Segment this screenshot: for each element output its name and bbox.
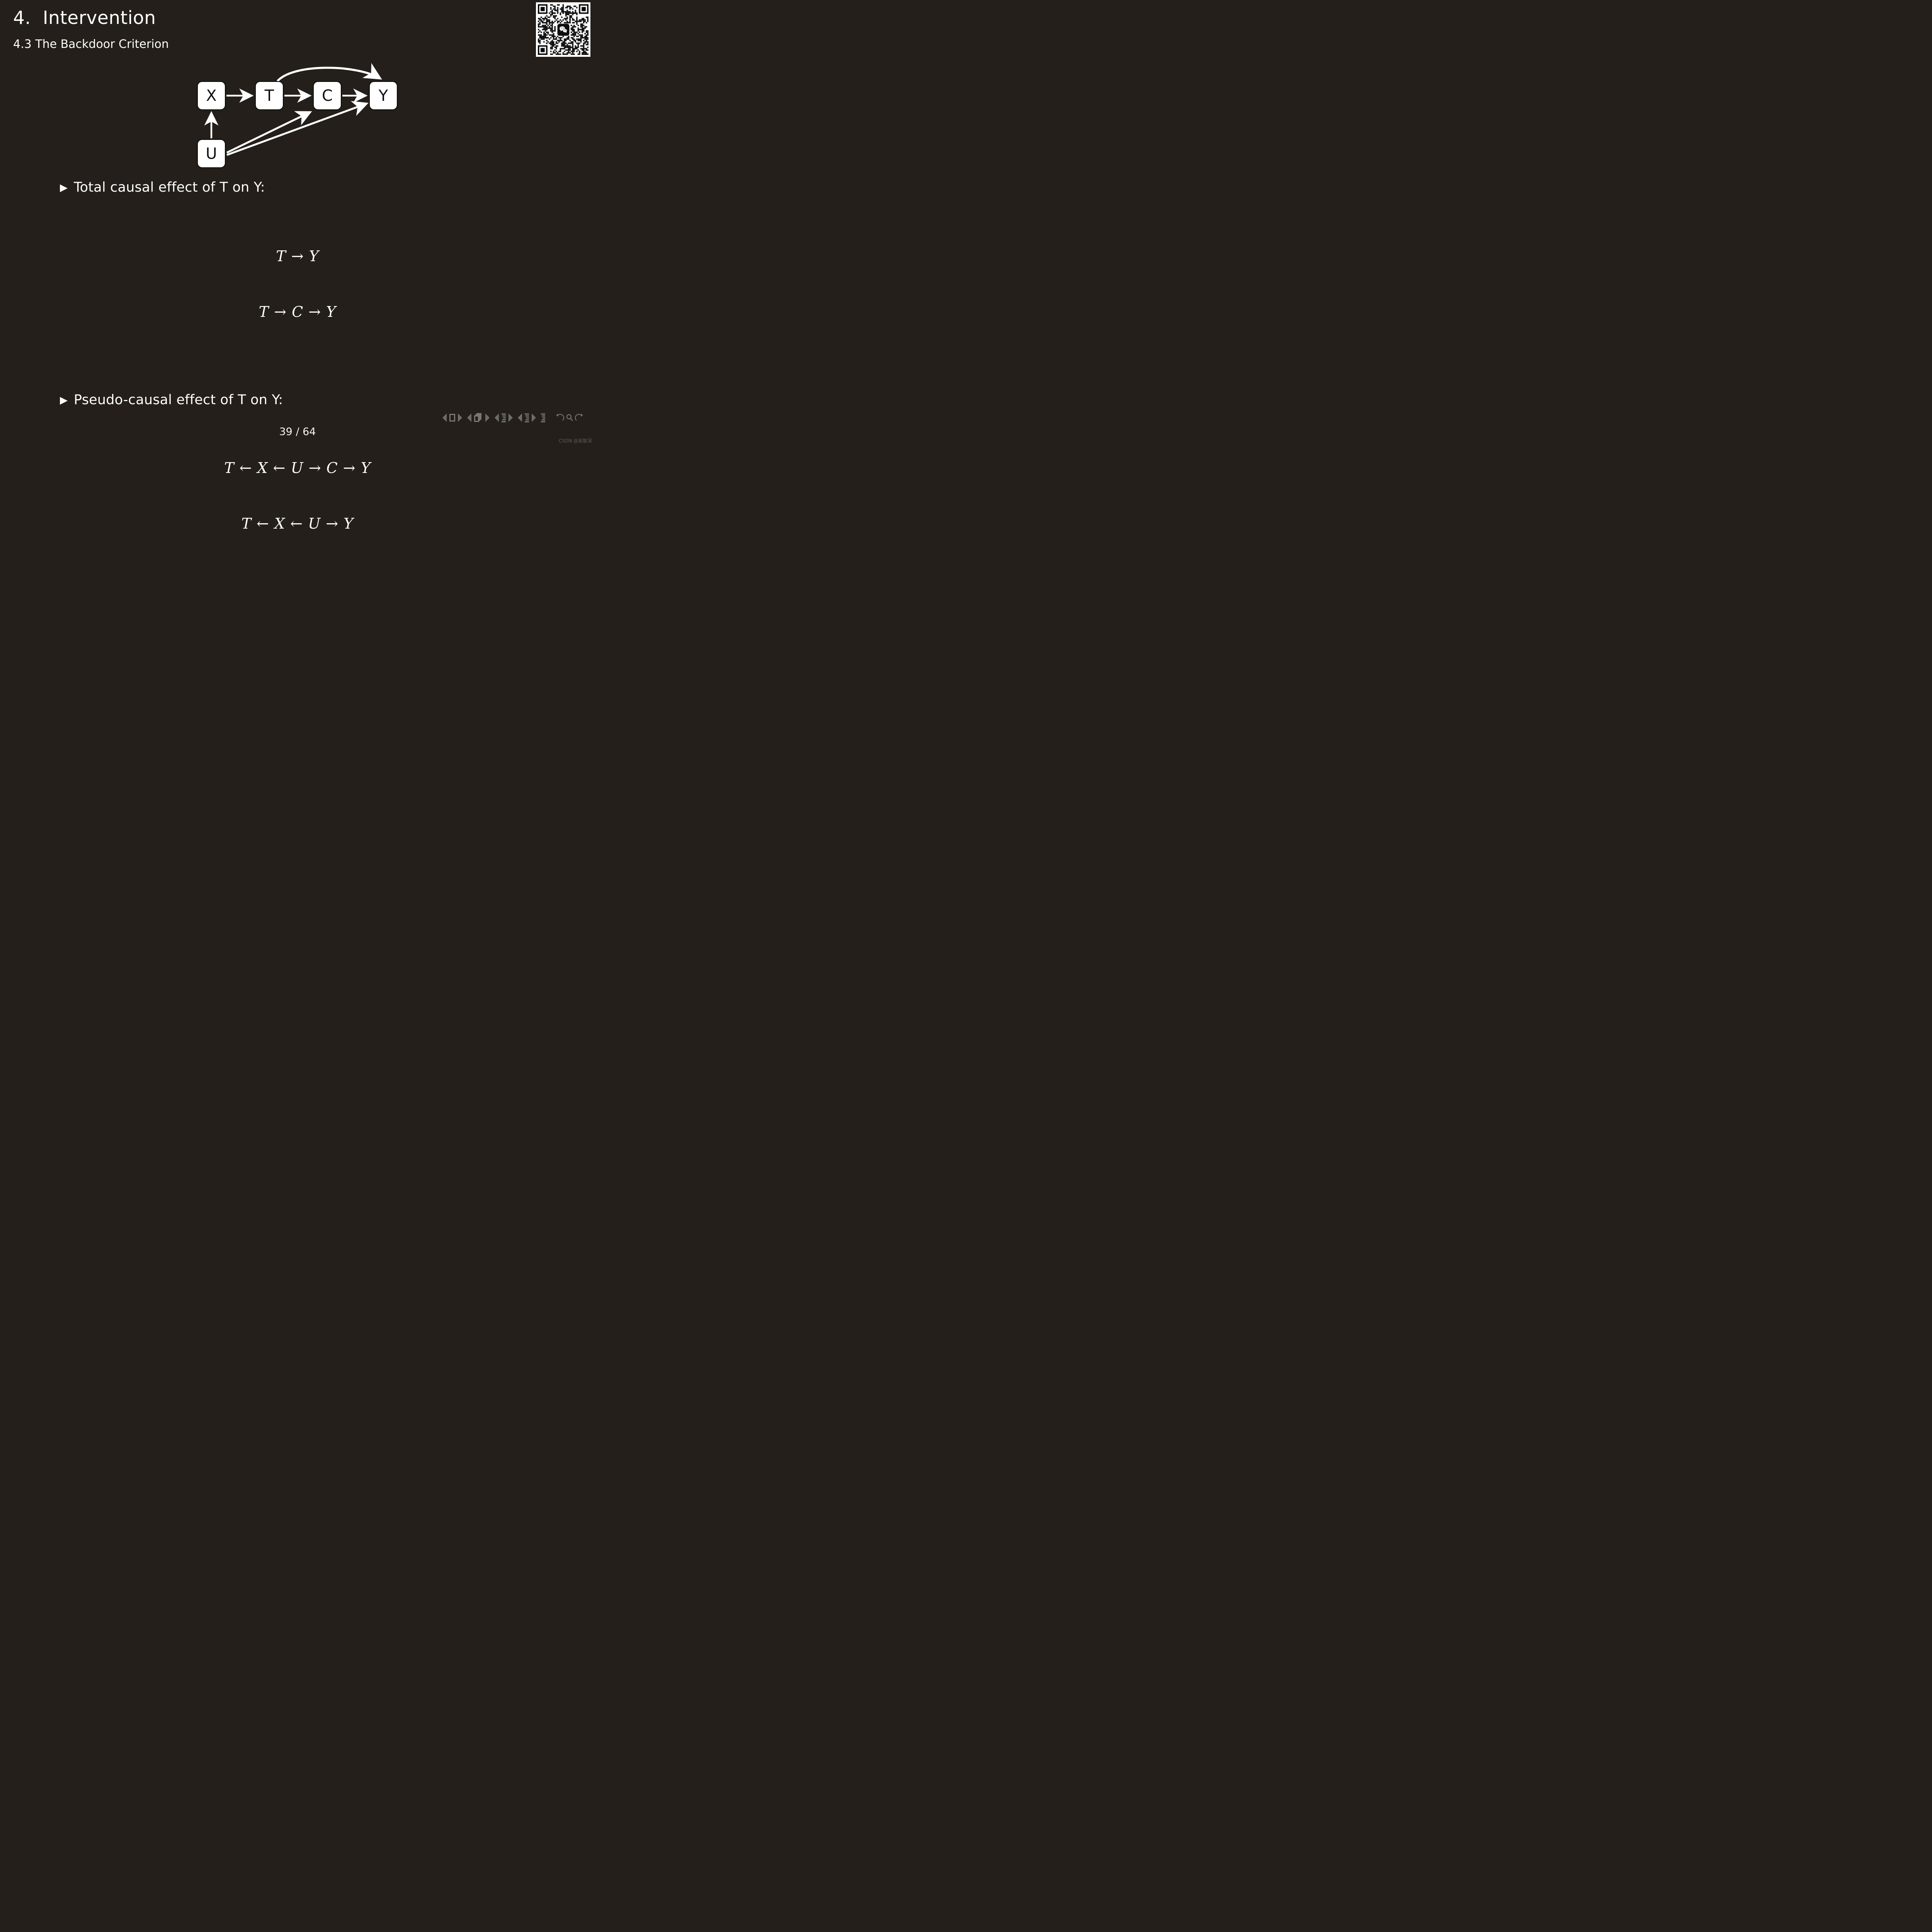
- causal-dag: X T C Y U: [189, 66, 406, 178]
- dag-node-y-label: Y: [379, 88, 388, 104]
- dag-node-y[interactable]: Y: [369, 81, 398, 110]
- formula-2-2: T ← X ← U → Y: [0, 513, 595, 534]
- list-item: ▶ Pseudo-causal effect of T on Y:: [60, 392, 595, 408]
- document-navigation-group[interactable]: [541, 413, 545, 422]
- edge-t-to-y-curved: [277, 68, 380, 81]
- formula-2-1: T ← X ← U → C → Y: [0, 457, 595, 479]
- page-number: 39 / 64: [0, 426, 595, 438]
- prev-frame-icon[interactable]: [467, 413, 471, 422]
- dag-node-t-label: T: [265, 88, 274, 104]
- formula-1-1: T → Y: [0, 245, 595, 267]
- bullet-marker-icon: ▶: [60, 180, 74, 195]
- dag-node-x[interactable]: X: [197, 81, 226, 110]
- slide-body: ▶ Total causal effect of T on Y: T → Y T…: [0, 180, 595, 568]
- section-navigation-group[interactable]: [518, 413, 536, 422]
- history-navigation-group[interactable]: [555, 413, 584, 422]
- prev-slide-icon[interactable]: [442, 413, 447, 422]
- formula-group-2: T ← X ← U → C → Y T ← X ← U → Y: [0, 423, 595, 568]
- bullet-marker-icon: ▶: [60, 392, 74, 407]
- subsection-bars-icon[interactable]: [502, 413, 506, 422]
- section-bars-icon[interactable]: [525, 413, 529, 422]
- bullet-1-text: Total causal effect of T on Y:: [74, 180, 265, 195]
- slide-header: 4. Intervention 4.3 The Backdoor Criteri…: [13, 9, 169, 51]
- bullet-2-text: Pseudo-causal effect of T on Y:: [74, 392, 283, 408]
- watermark: CSDN @吴智深: [559, 437, 592, 444]
- back-icon[interactable]: [555, 413, 564, 422]
- prev-subsection-icon[interactable]: [495, 413, 499, 422]
- next-section-icon[interactable]: [532, 413, 536, 422]
- list-item: ▶ Total causal effect of T on Y:: [60, 180, 595, 195]
- document-bars-icon[interactable]: [541, 413, 545, 422]
- next-subsection-icon[interactable]: [509, 413, 513, 422]
- wechat-qr-code[interactable]: [536, 2, 590, 57]
- edge-u-to-c: [227, 112, 310, 153]
- dag-node-t[interactable]: T: [255, 81, 284, 110]
- formula-1-2: T → C → Y: [0, 301, 595, 323]
- forward-icon[interactable]: [575, 413, 584, 422]
- next-slide-icon[interactable]: [458, 413, 462, 422]
- page-title: 4. Intervention: [13, 9, 169, 27]
- dag-node-u-label: U: [206, 146, 217, 162]
- beamer-navigation-bar[interactable]: [442, 413, 584, 422]
- search-icon[interactable]: [565, 413, 574, 422]
- prev-section-icon[interactable]: [518, 413, 522, 422]
- slide-icon[interactable]: [449, 414, 455, 422]
- frame-navigation-group[interactable]: [467, 413, 490, 422]
- slide-navigation-group[interactable]: [442, 413, 462, 422]
- next-frame-icon[interactable]: [485, 413, 490, 422]
- formula-group-1: T → Y T → C → Y: [0, 211, 595, 357]
- subsection-navigation-group[interactable]: [495, 413, 513, 422]
- dag-node-c-label: C: [322, 88, 333, 104]
- dag-node-u[interactable]: U: [197, 139, 226, 168]
- wechat-icon: [557, 24, 569, 36]
- dag-node-x-label: X: [206, 88, 216, 104]
- dag-node-c[interactable]: C: [313, 81, 342, 110]
- edge-u-to-y: [227, 104, 367, 155]
- frames-stack-icon[interactable]: [474, 413, 483, 422]
- page-subtitle: 4.3 The Backdoor Criterion: [13, 37, 169, 51]
